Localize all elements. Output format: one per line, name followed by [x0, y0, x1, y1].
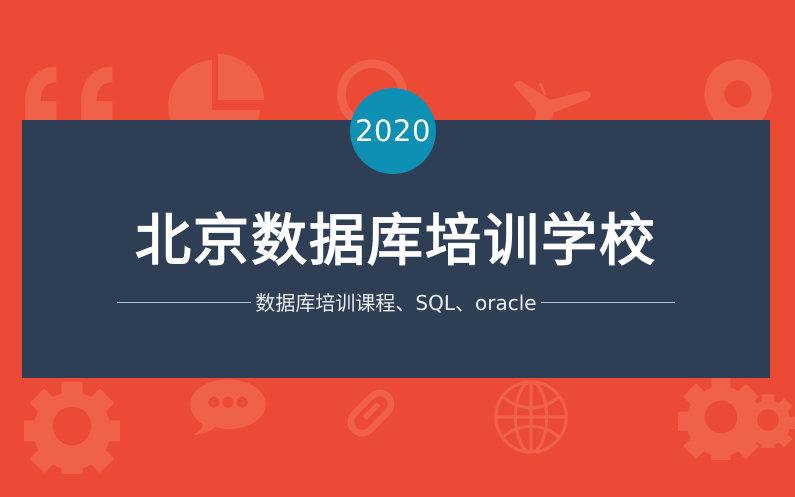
page-subtitle: 数据库培训课程、SQL、oracle — [255, 293, 536, 313]
divider-line-right — [541, 302, 675, 303]
link-icon — [338, 378, 404, 444]
subtitle-row: 数据库培训课程、SQL、oracle — [22, 293, 770, 313]
chat-bubble-icon — [188, 378, 268, 436]
divider-line-left — [117, 302, 251, 303]
gear-icon — [740, 392, 795, 448]
presentation-slide: 北京数据库培训学校 数据库培训课程、SQL、oracle 2020 — [0, 0, 795, 497]
page-title: 北京数据库培训学校 — [135, 185, 657, 273]
gear-icon — [24, 378, 120, 474]
year-badge-label: 2020 — [355, 117, 431, 146]
year-badge: 2020 — [350, 88, 436, 174]
globe-icon — [492, 378, 570, 456]
gear-icon — [678, 374, 764, 460]
